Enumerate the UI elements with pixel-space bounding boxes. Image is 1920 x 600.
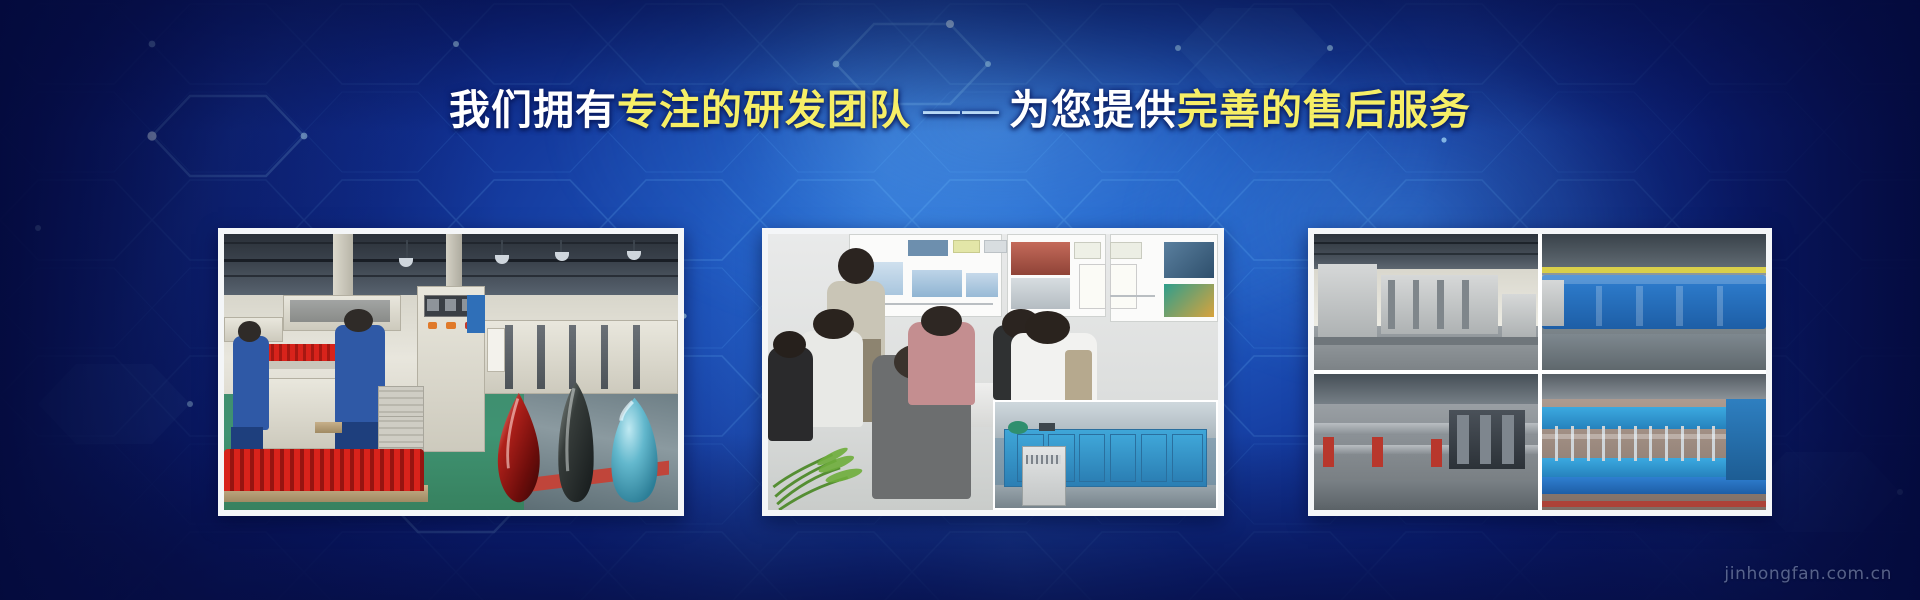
- palm-plant: [768, 405, 876, 510]
- vase-red: [487, 391, 551, 504]
- equipment-spray-line: [1542, 374, 1766, 510]
- headline-segment-yellow-1: 专注的研发团队: [617, 86, 911, 134]
- banner-headline: 我们拥有专注的研发团队——为您提供完善的售后服务: [0, 84, 1920, 139]
- photo-panel-row: [0, 228, 1920, 518]
- equipment-conveyor-line: [1314, 374, 1538, 510]
- promo-banner: 我们拥有专注的研发团队——为您提供完善的售后服务: [0, 0, 1920, 600]
- site-watermark: jinhongfan.com.cn: [1724, 564, 1892, 584]
- panel-production-line[interactable]: [218, 228, 684, 516]
- panel-meeting-room[interactable]: [762, 228, 1224, 516]
- panel-equipment-collage[interactable]: [1308, 228, 1772, 516]
- headline-segment-white-1: 我们拥有: [449, 86, 617, 134]
- equipment-collage-photo: [1314, 234, 1766, 510]
- equipment-tunnel-furnace: [1314, 234, 1538, 370]
- production-line-photo: [224, 234, 678, 510]
- headline-segment-yellow-2: 完善的售后服务: [1177, 86, 1471, 134]
- headline-dash: ——: [911, 84, 1009, 136]
- vase-black: [551, 380, 601, 504]
- meeting-room-photo: [768, 234, 1218, 510]
- vase-blue: [605, 394, 664, 504]
- collage-divider-horizontal: [1314, 370, 1766, 374]
- machine-inset-photo: [993, 400, 1218, 510]
- headline-segment-white-2: 为您提供: [1009, 86, 1177, 134]
- equipment-blue-oven: [1542, 234, 1766, 370]
